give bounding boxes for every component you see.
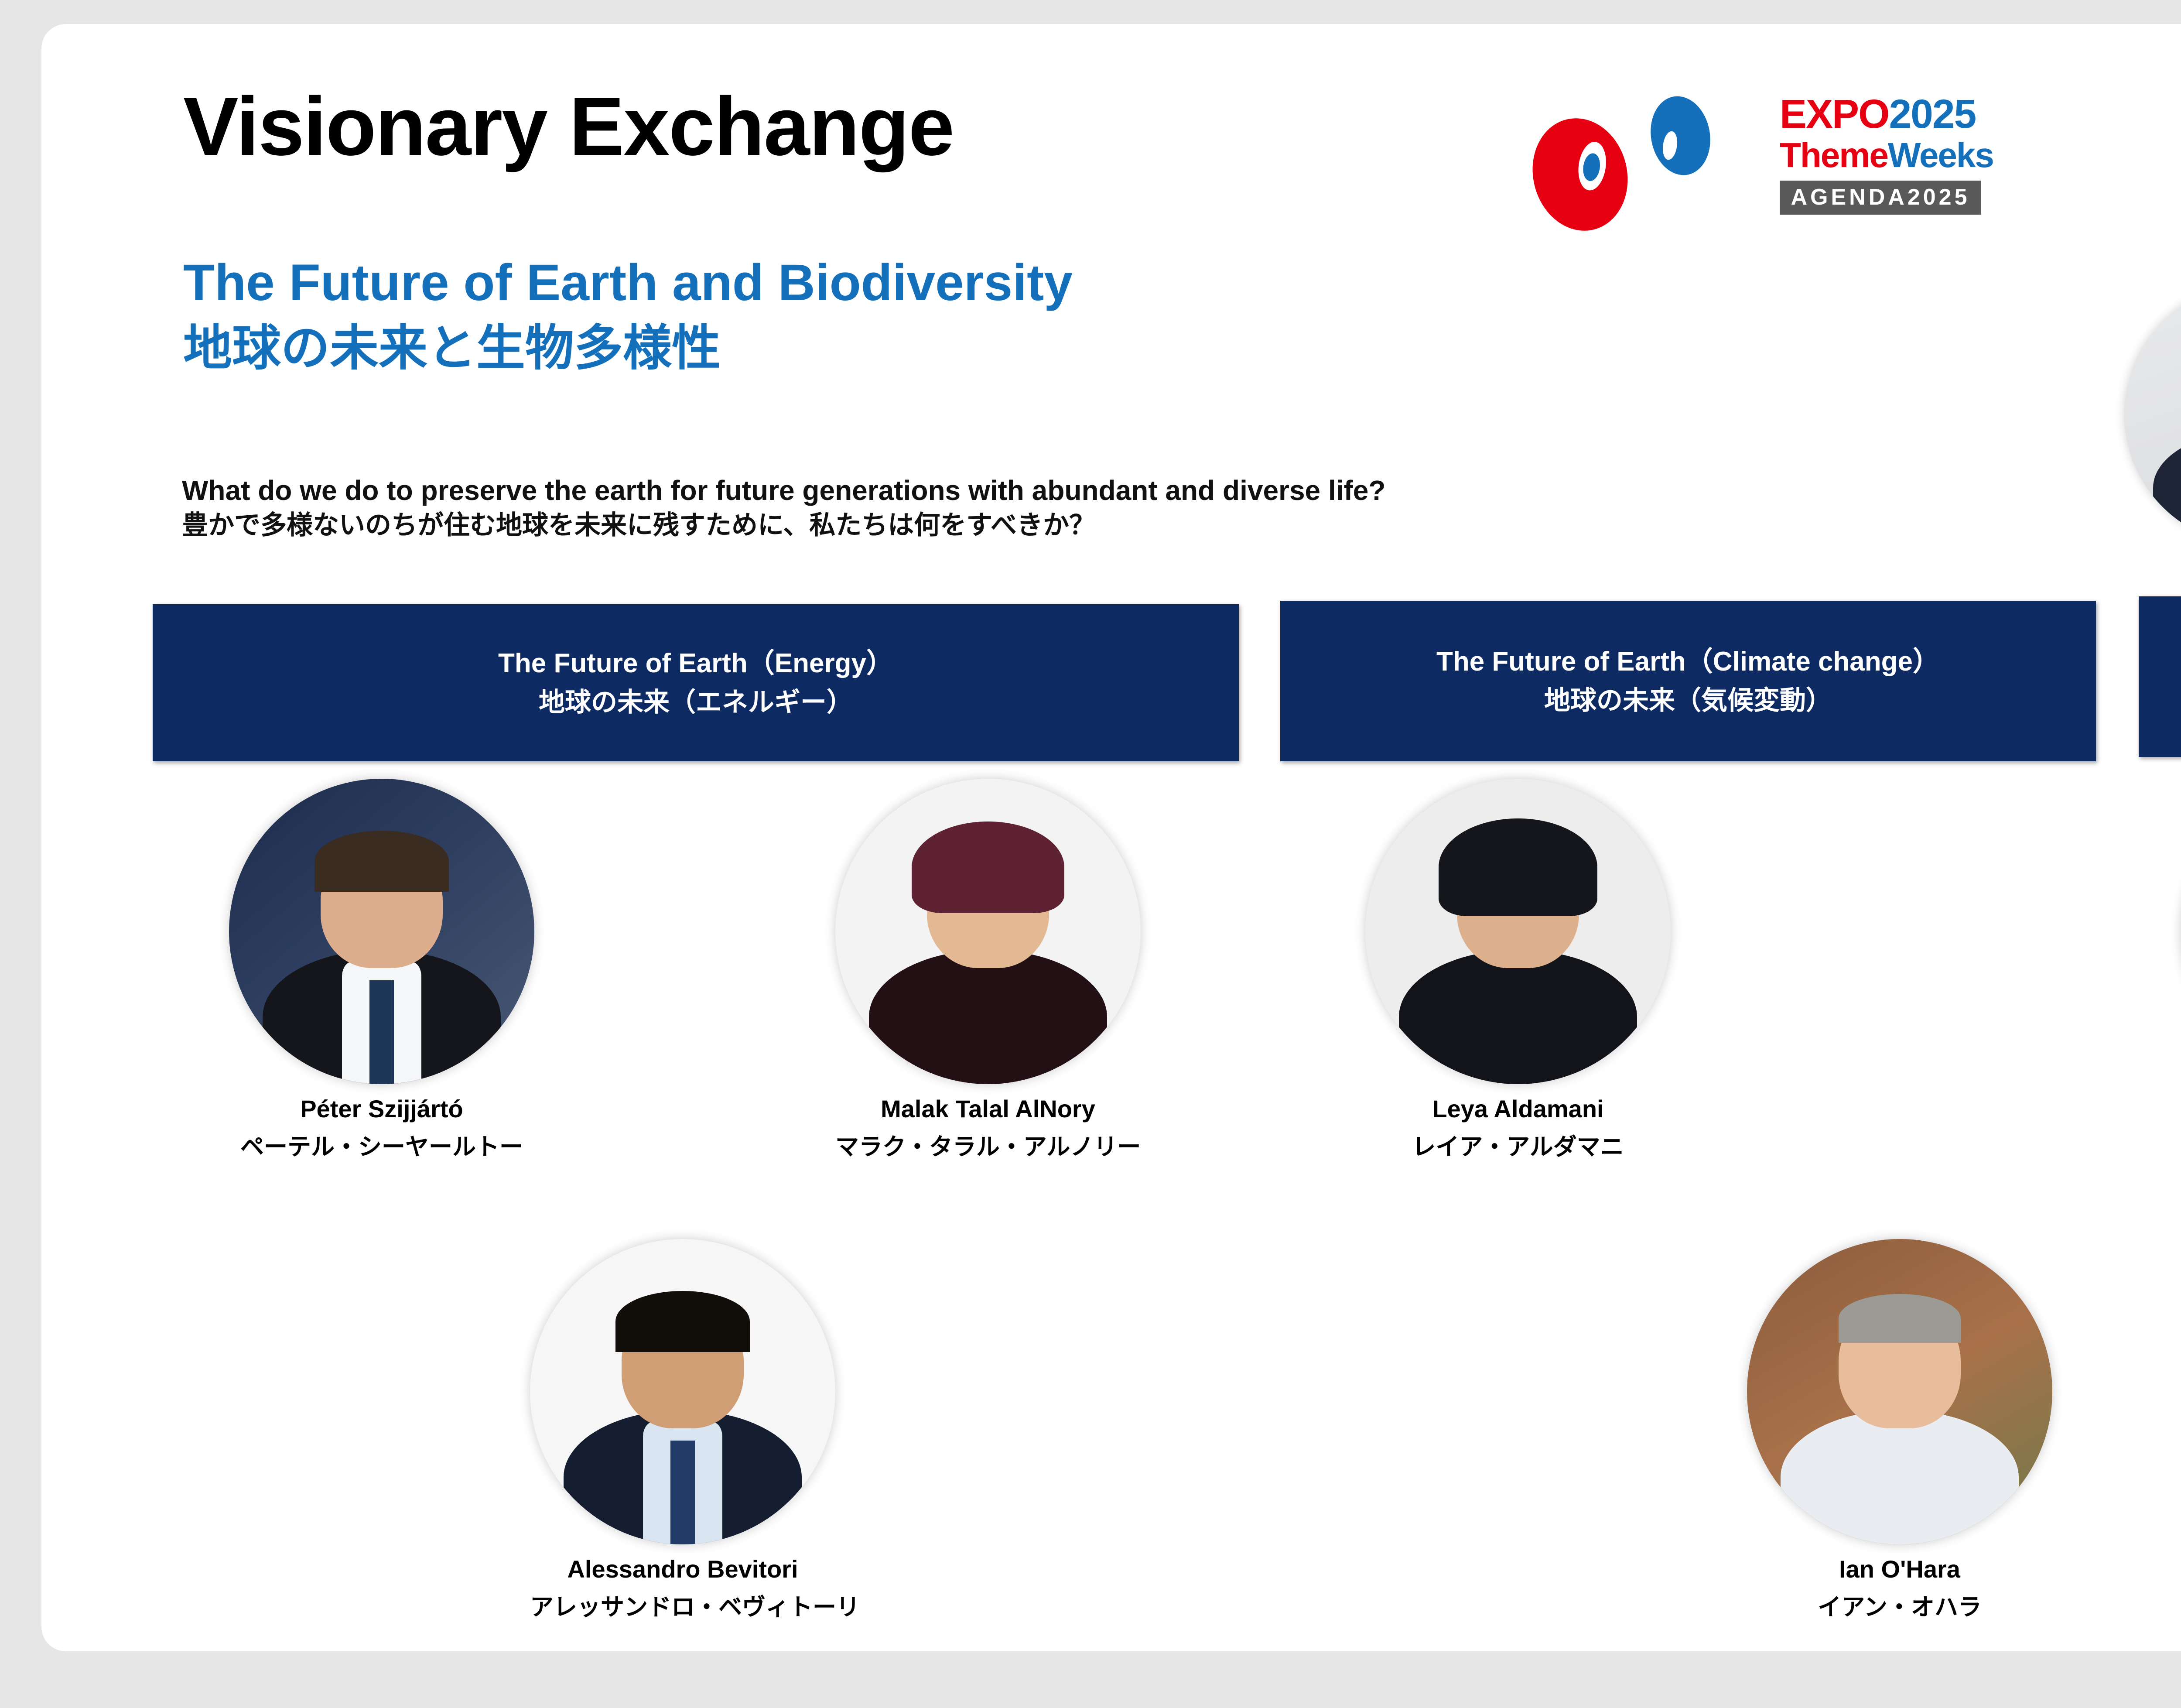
speaker-name-jp: イアン・オハラ bbox=[1747, 1588, 2052, 1622]
speaker-name-en: Alessandro Bevitori bbox=[530, 1555, 835, 1583]
speaker-avatar bbox=[835, 779, 1141, 1084]
speaker-name-jp: ペーテル・シーヤールトー bbox=[229, 1127, 534, 1162]
speaker-name-jp: マラク・タラル・アルノリー bbox=[835, 1127, 1141, 1162]
speaker-name-en: Malak Talal AlNory bbox=[835, 1095, 1141, 1123]
expo-logo-lockup: EXPO2025 ThemeWeeks AGENDA2025 bbox=[1780, 94, 1993, 215]
speaker-card: Leya Aldamani レイア・アルダマニ bbox=[1365, 779, 1671, 1162]
speaker-card: Malak Talal AlNory マラク・タラル・アルノリー bbox=[835, 779, 1141, 1162]
section-banner-title-en: The Future of Earth（Energy） bbox=[498, 649, 893, 678]
speaker-name-en: Leya Aldamani bbox=[1365, 1095, 1671, 1123]
expo-logo-theme: Theme bbox=[1780, 136, 1888, 175]
question-japanese: 豊かで多様ないのちが住む地球を未来に残すために、私たちは何をすべきか？ bbox=[182, 509, 1095, 541]
speaker-avatar bbox=[530, 1239, 835, 1544]
speaker-card: Péter Szijjártó ペーテル・シーヤールトー bbox=[229, 779, 534, 1162]
subtitle-japanese: 地球の未来と生物多様性 bbox=[183, 321, 721, 375]
lead-navigator-avatar bbox=[2124, 284, 2181, 545]
speaker-avatar bbox=[229, 779, 534, 1084]
section-banner-title-en: The Future of Earth（Climate change） bbox=[1436, 647, 1940, 677]
section-banner-title-jp: 地球の未来（気候変動） bbox=[1544, 686, 1832, 715]
speaker-name-en: Péter Szijjártó bbox=[229, 1095, 534, 1123]
poster-card: Visionary Exchange The Future of Earth a… bbox=[41, 24, 2181, 1651]
question-english: What do we do to preserve the earth for … bbox=[182, 473, 1385, 507]
speaker-avatar bbox=[1365, 779, 1671, 1084]
speaker-card: Alessandro Bevitori アレッサンドロ・ベヴィトーリ bbox=[530, 1239, 835, 1622]
section-banner-biodiversity: Biodiversity 生物多様性 bbox=[2139, 596, 2181, 757]
speaker-name-jp: アレッサンドロ・ベヴィトーリ bbox=[530, 1588, 835, 1622]
expo-logo-expo: EXPO bbox=[1780, 91, 1889, 137]
expo-red-ball-icon bbox=[1521, 108, 1640, 241]
expo-logo-weeks: Weeks bbox=[1888, 136, 1993, 175]
speaker-name-jp: レイア・アルダマニ bbox=[1365, 1127, 1671, 1162]
subtitle-english: The Future of Earth and Biodiversity bbox=[183, 255, 1073, 311]
section-banner-energy: The Future of Earth（Energy） 地球の未来（エネルギー） bbox=[153, 604, 1239, 761]
expo-logo-2025: 2025 bbox=[1889, 91, 1976, 137]
speaker-name-en: Ian O'Hara bbox=[1747, 1555, 2052, 1583]
page-title: Visionary Exchange bbox=[183, 85, 954, 168]
speaker-avatar bbox=[1747, 1239, 2052, 1544]
agenda-badge: AGENDA2025 bbox=[1780, 181, 1981, 215]
section-banner-climate-change: The Future of Earth（Climate change） 地球の未… bbox=[1280, 601, 2096, 761]
section-banner-title-jp: 地球の未来（エネルギー） bbox=[539, 688, 853, 717]
expo-blue-ball-icon bbox=[1644, 92, 1716, 180]
speaker-card: Ian O'Hara イアン・オハラ bbox=[1747, 1239, 2052, 1622]
